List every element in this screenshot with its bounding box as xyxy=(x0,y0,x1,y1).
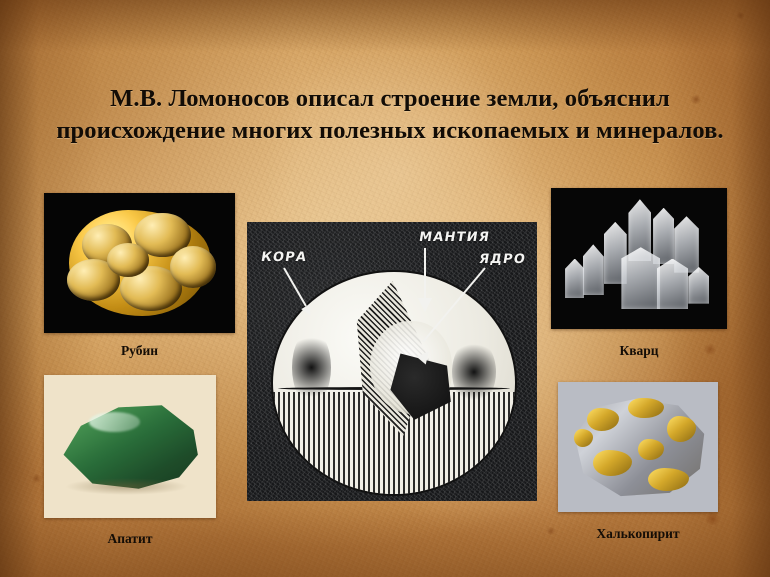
diagram-label-core: ЯДРО xyxy=(478,252,527,267)
crust-speckle xyxy=(292,330,331,405)
earth-structure-diagram: КОРА МАНТИЯ ЯДРО xyxy=(247,222,537,501)
mantle-arrow-line xyxy=(424,248,426,302)
diagram-label-mantle: МАНТИЯ xyxy=(418,230,491,245)
mantle-arrow-head xyxy=(418,298,432,312)
quartz-crystal xyxy=(583,244,604,295)
page-title: М.В. Ломоносов описал строение земли, об… xyxy=(40,83,740,148)
quartz-crystal xyxy=(653,208,674,264)
mineral-caption-quartz: Кварц xyxy=(551,343,727,359)
chalcopyrite-gold-patch xyxy=(593,450,631,476)
chalcopyrite-gold-patch xyxy=(667,416,696,442)
mineral-photo-quartz xyxy=(551,188,727,329)
quartz-crystal xyxy=(621,247,660,309)
mineral-photo-ruby xyxy=(44,193,235,333)
quartz-crystal xyxy=(565,259,584,298)
mineral-caption-apatite: Апатит xyxy=(44,531,216,547)
mineral-caption-chalcopyrite: Халькопирит xyxy=(540,526,736,542)
mineral-photo-apatite xyxy=(44,375,216,518)
presentation-slide: М.В. Ломоносов описал строение земли, об… xyxy=(0,0,770,577)
quartz-crystal xyxy=(657,259,689,310)
apatite-shadow xyxy=(65,478,189,495)
crust-speckle xyxy=(452,339,496,406)
mineral-caption-ruby: Рубин xyxy=(44,343,235,359)
nugget-lump xyxy=(170,246,216,288)
mineral-photo-chalcopyrite xyxy=(558,382,718,512)
diagram-label-crust: КОРА xyxy=(260,250,308,265)
nugget-lump xyxy=(107,243,149,277)
chalcopyrite-gold-patch xyxy=(648,468,690,491)
